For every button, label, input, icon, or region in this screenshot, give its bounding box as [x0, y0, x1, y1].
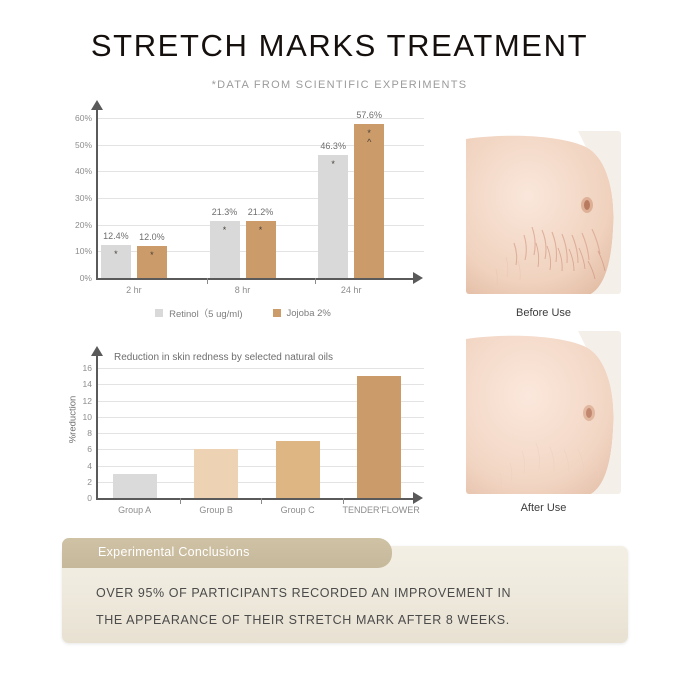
chart2-y-axis: [96, 354, 98, 498]
chart1-bar-value-label: 46.3%: [320, 141, 346, 151]
chart1-y-tick-label: 20%: [62, 220, 92, 230]
chart2-bar: [113, 474, 157, 498]
page-title: STRETCH MARKS TREATMENT: [0, 28, 679, 64]
chart1-x-tick-label: 8 hr: [207, 285, 279, 295]
chart1-x-axis: [96, 278, 414, 280]
chart1-legend-item: Retinol（5 ug/ml): [155, 306, 242, 320]
chart2-plot-area: Group AGroup BGroup CTENDER'FLOWER: [98, 368, 424, 498]
chart1-bar-value-label: 21.3%: [212, 207, 238, 217]
chart1-bar-value-label: 21.2%: [248, 207, 274, 217]
conclusions-tab-label: Experimental Conclusions: [98, 545, 250, 559]
before-photo-caption: Before Use: [466, 307, 621, 319]
chart2-x-tick-label: Group A: [98, 505, 171, 515]
legend-label: Retinol（5 ug/ml): [169, 306, 242, 320]
chart1-y-tick-label: 30%: [62, 193, 92, 203]
significance-marker: *: [223, 226, 227, 235]
chart2-y-tick-label: 12: [70, 396, 92, 406]
after-photo-image: [466, 331, 621, 494]
before-photo-image: [466, 131, 621, 294]
chart2-x-tickmark: [261, 498, 262, 504]
chart1-y-tick-label: 40%: [62, 166, 92, 176]
chart2-x-tickmark: [180, 498, 181, 504]
chart1-plot-area: 12.4%*12.0%*2 hr21.3%*21.2%*8 hr46.3%*57…: [98, 118, 424, 278]
chart2-x-tick-label: TENDER'FLOWER: [343, 505, 416, 515]
chart2-x-axis-arrow-icon: [413, 492, 423, 504]
after-photo: [466, 331, 621, 494]
chart1-bar-value-label: 12.0%: [139, 232, 165, 242]
chart1-x-tickmark: [315, 278, 316, 284]
conclusions-body: OVER 95% OF PARTICIPANTS RECORDED AN IMP…: [96, 580, 606, 634]
legend-color-swatch: [155, 309, 163, 317]
chart2-y-tick-label: 2: [70, 477, 92, 487]
experimental-conclusions: Experimental Conclusions OVER 95% OF PAR…: [62, 538, 628, 643]
chart2-bar: [194, 449, 238, 498]
chart1-x-tickmark: [207, 278, 208, 284]
chart1-y-axis-arrow-icon: [91, 100, 103, 110]
conclusions-line-1: OVER 95% OF PARTICIPANTS RECORDED AN IMP…: [96, 580, 606, 607]
chart2-y-axis-arrow-icon: [91, 346, 103, 356]
significance-marker: ^: [367, 138, 371, 147]
significance-marker: *: [150, 251, 154, 260]
chart1-bar: 12.4%*: [101, 245, 131, 278]
chart2-y-tick-label: 8: [70, 428, 92, 438]
chart1-legend: Retinol（5 ug/ml)Jojoba 2%: [62, 306, 424, 320]
significance-marker: *: [331, 160, 335, 169]
chart1-bar: 46.3%*: [318, 155, 348, 278]
after-photo-caption: After Use: [466, 502, 621, 514]
chart1-y-tick-label: 10%: [62, 246, 92, 256]
chart1-bar: 21.2%*: [246, 221, 276, 278]
before-photo: [466, 131, 621, 294]
chart2-y-tick-label: 10: [70, 412, 92, 422]
chart1-x-axis-arrow-icon: [413, 272, 423, 284]
significance-marker: *: [114, 250, 118, 259]
chart1-significance-markers: *: [223, 226, 227, 235]
chart1-y-tick-label: 0%: [62, 273, 92, 283]
infographic-page: STRETCH MARKS TREATMENT *DATA FROM SCIEN…: [0, 0, 679, 679]
chart2-title: Reduction in skin redness by selected na…: [114, 352, 414, 363]
chart1-y-axis-labels: 0%10%20%30%40%50%60%: [62, 118, 92, 278]
conclusions-line-2: THE APPEARANCE OF THEIR STRETCH MARK AFT…: [96, 607, 606, 634]
chart2-x-tick-label: Group B: [180, 505, 253, 515]
chart1-significance-markers: *: [259, 226, 263, 235]
chart-retinol-vs-jojoba: 0%10%20%30%40%50%60% 12.4%*12.0%*2 hr21.…: [62, 118, 424, 293]
legend-label: Jojoba 2%: [287, 308, 331, 319]
chart2-x-tick-label: Group C: [261, 505, 334, 515]
page-subtitle: *DATA FROM SCIENTIFIC EXPERIMENTS: [0, 79, 679, 91]
chart1-bar: 21.3%*: [210, 221, 240, 278]
chart2-y-tick-label: 6: [70, 444, 92, 454]
chart-skin-redness-reduction: Reduction in skin redness by selected na…: [62, 352, 424, 522]
legend-color-swatch: [273, 309, 281, 317]
chart1-bar-value-label: 57.6%: [356, 110, 382, 120]
chart2-y-axis-labels: 0246810121416: [70, 368, 92, 498]
chart1-y-tick-label: 50%: [62, 140, 92, 150]
chart1-significance-markers: *: [114, 250, 118, 259]
chart1-significance-markers: *^: [367, 129, 371, 147]
chart1-x-tick-label: 2 hr: [98, 285, 170, 295]
chart1-bar-value-label: 12.4%: [103, 231, 129, 241]
chart1-y-tick-label: 60%: [62, 113, 92, 123]
chart1-significance-markers: *: [150, 251, 154, 260]
chart2-y-tick-label: 4: [70, 461, 92, 471]
chart2-gridline: [98, 368, 424, 369]
chart2-x-axis: [96, 498, 414, 500]
chart2-y-tick-label: 16: [70, 363, 92, 373]
chart1-bar: 57.6%*^: [354, 124, 384, 278]
chart2-y-tick-label: 14: [70, 379, 92, 389]
significance-marker: *: [259, 226, 263, 235]
chart1-bar: 12.0%*: [137, 246, 167, 278]
chart2-x-tickmark: [343, 498, 344, 504]
chart1-x-tick-label: 24 hr: [315, 285, 387, 295]
chart1-significance-markers: *: [331, 160, 335, 169]
chart2-bar: [276, 441, 320, 498]
chart2-y-tick-label: 0: [70, 493, 92, 503]
chart1-y-axis: [96, 108, 98, 278]
chart1-legend-item: Jojoba 2%: [273, 308, 331, 319]
chart2-bar: [357, 376, 401, 498]
